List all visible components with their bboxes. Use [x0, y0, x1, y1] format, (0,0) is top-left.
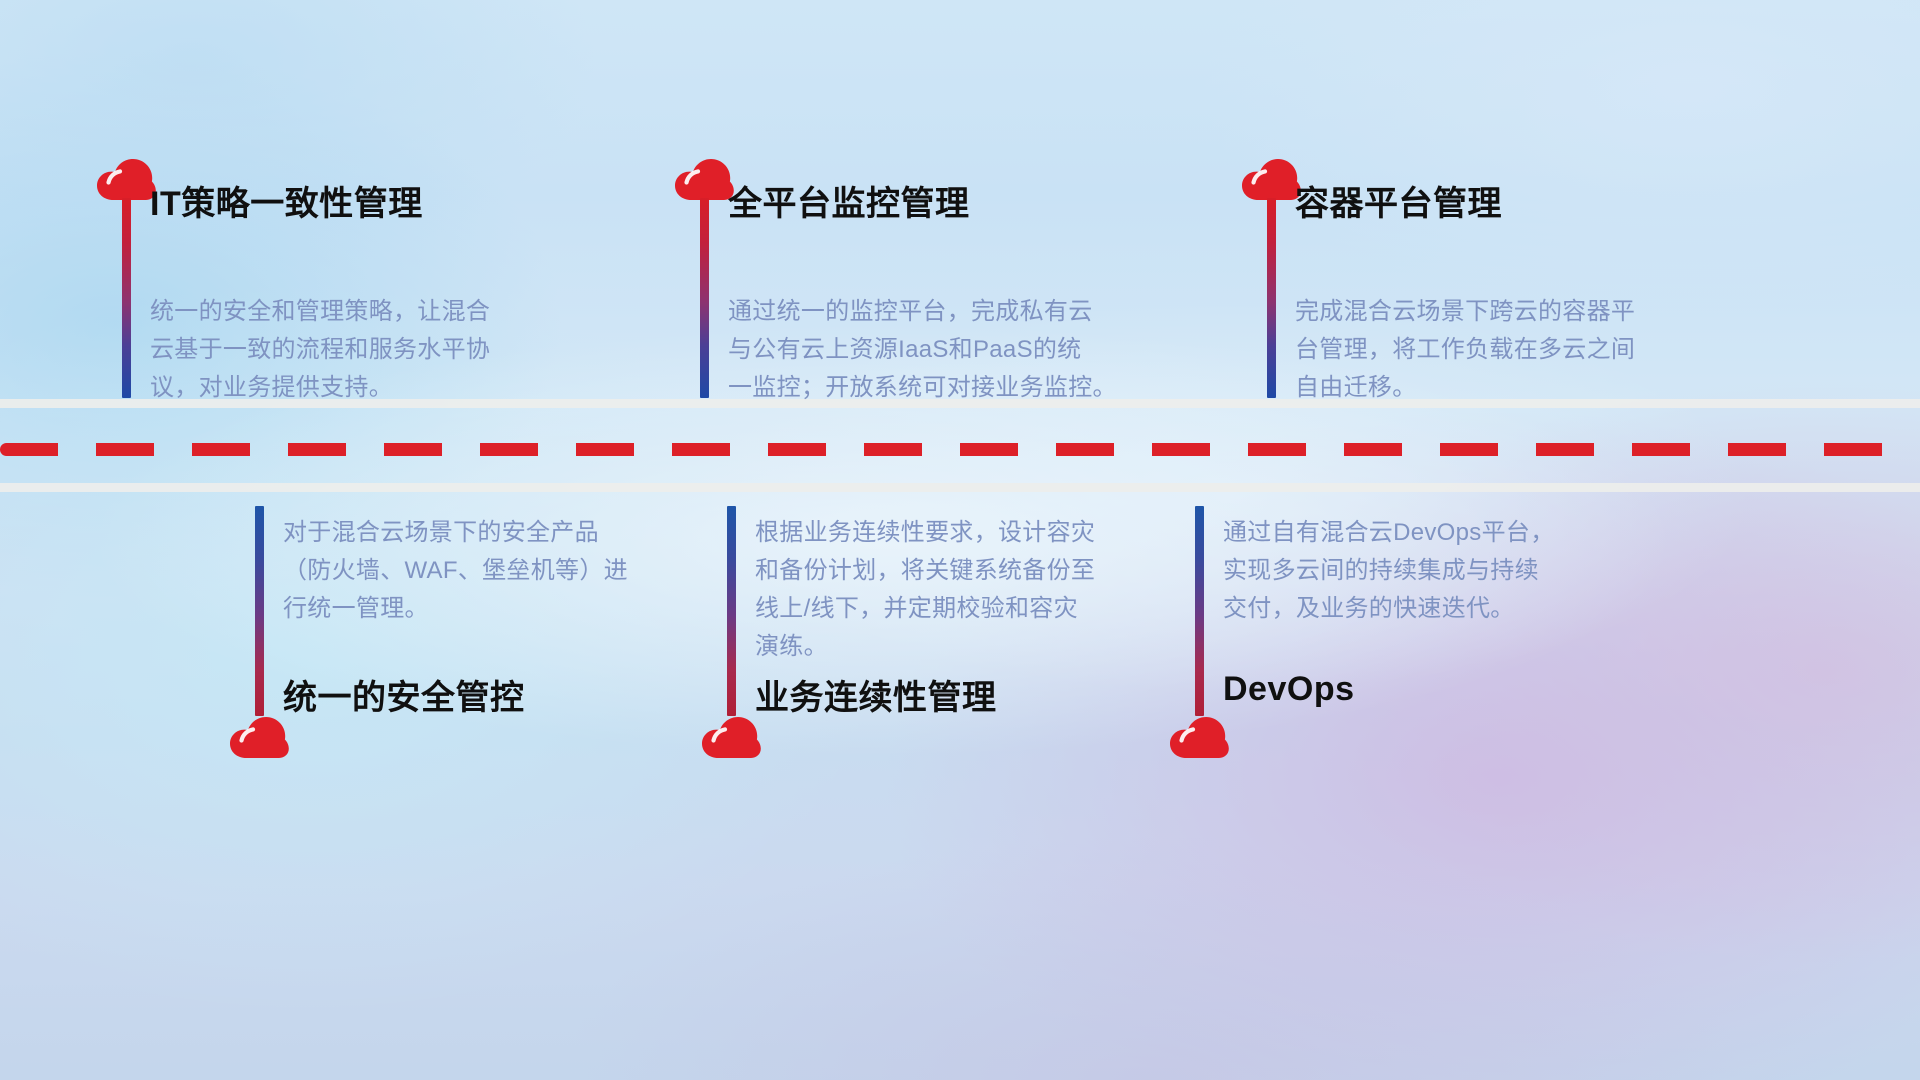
connector-bar — [122, 198, 131, 398]
heading-unified-security: 统一的安全管控 — [283, 670, 525, 719]
road-dashed-center-line — [0, 443, 1920, 456]
heading-business-continuity: 业务连续性管理 — [755, 670, 997, 719]
road-edge-bottom — [0, 483, 1920, 492]
bottom-row: 对于混合云场景下的安全产品 （防火墙、WAF、堡垒机等）进 行统一管理。 统一的… — [0, 492, 1920, 972]
body-devops: 通过自有混合云DevOps平台， 实现多云间的持续集成与持续 交付，及业务的快速… — [1223, 514, 1583, 628]
cloud-icon — [1240, 158, 1302, 202]
heading-devops: DevOps — [1223, 670, 1355, 709]
cloud-icon — [95, 158, 157, 202]
connector-bar — [727, 506, 736, 716]
pin-full-platform-monitoring — [673, 158, 735, 202]
connector-bar — [255, 506, 264, 716]
connector-bar — [1195, 506, 1204, 716]
pin-it-policy-consistency — [95, 158, 157, 202]
top-row: IT策略一致性管理 统一的安全和管理策略，让混合 云基于一致的流程和服务水平协 … — [0, 0, 1920, 399]
connector-bar — [700, 198, 709, 398]
connector-bar — [1267, 198, 1276, 398]
heading-full-platform-monitoring: 全平台监控管理 — [728, 176, 970, 225]
cloud-icon — [673, 158, 735, 202]
cloud-icon — [228, 716, 290, 760]
body-unified-security: 对于混合云场景下的安全产品 （防火墙、WAF、堡垒机等）进 行统一管理。 — [283, 514, 663, 628]
infographic-canvas: IT策略一致性管理 统一的安全和管理策略，让混合 云基于一致的流程和服务水平协 … — [0, 0, 1920, 1080]
pin-container-platform — [1240, 158, 1302, 202]
body-it-policy-consistency: 统一的安全和管理策略，让混合 云基于一致的流程和服务水平协 议，对业务提供支持。 — [150, 293, 510, 407]
body-business-continuity: 根据业务连续性要求，设计容灾 和备份计划，将关键系统备份至 线上/线下，并定期校… — [755, 514, 1135, 666]
cloud-icon — [1168, 716, 1230, 760]
heading-it-policy-consistency: IT策略一致性管理 — [150, 176, 423, 225]
body-container-platform: 完成混合云场景下跨云的容器平 台管理，将工作负载在多云之间 自由迁移。 — [1295, 293, 1675, 407]
cloud-icon — [700, 716, 762, 760]
body-full-platform-monitoring: 通过统一的监控平台，完成私有云 与公有云上资源IaaS和PaaS的统 一监控；开… — [728, 293, 1128, 407]
heading-container-platform: 容器平台管理 — [1295, 176, 1502, 225]
